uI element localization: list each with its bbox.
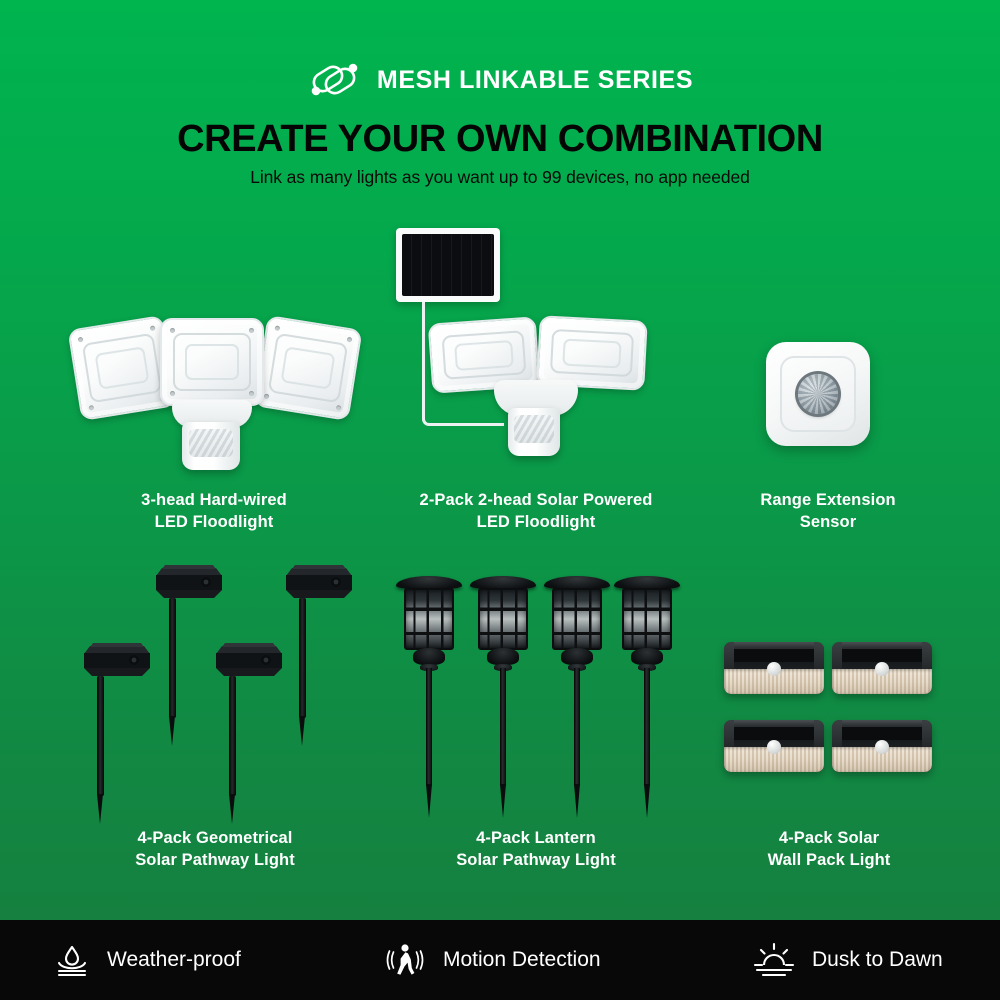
product-caption: Range Extension Sensor <box>708 490 948 534</box>
sunrise-dusk-to-dawn-icon <box>752 940 796 980</box>
feature-motion-detection: Motion Detection <box>383 940 601 980</box>
mesh-link-logo-icon <box>307 58 363 102</box>
product-card-range-extension-sensor[interactable]: Range Extension Sensor <box>708 300 948 534</box>
product-infographic-poster: MESH LINKABLE SERIES CREATE YOUR OWN COM… <box>0 0 1000 1000</box>
product-image-solar-floodlight <box>386 228 686 490</box>
walking-person-motion-icon <box>383 940 427 980</box>
floodlight-panel-right <box>253 315 362 421</box>
product-card-two-pack-solar-floodlight[interactable]: 2-Pack 2-head Solar Powered LED Floodlig… <box>386 228 686 534</box>
product-caption: 4-Pack Solar Wall Pack Light <box>704 828 954 872</box>
geometrical-light-3 <box>208 640 290 687</box>
range-sensor-body <box>766 342 870 446</box>
pir-dot-icon <box>875 662 889 676</box>
product-image-range-sensor <box>708 300 948 490</box>
product-card-geometrical-pathway-light[interactable]: 4-Pack Geometrical Solar Pathway Light <box>60 556 370 872</box>
pir-dot-icon <box>875 740 889 754</box>
wall-pack-light-1 <box>724 642 824 694</box>
product-card-lantern-pathway-light[interactable]: 4-Pack Lantern Solar Pathway Light <box>386 566 686 872</box>
pir-dome-icon <box>798 374 838 414</box>
solar-panel <box>396 228 500 302</box>
feature-label: Motion Detection <box>443 948 601 972</box>
product-caption: 2-Pack 2-head Solar Powered LED Floodlig… <box>386 490 686 534</box>
range-sensor-faceplate <box>780 356 857 433</box>
wall-pack-light-3 <box>724 720 824 772</box>
product-image-geometrical-pathway-lights <box>60 556 370 828</box>
feature-label: Weather-proof <box>107 948 241 972</box>
feature-weather-proof: Weather-proof <box>53 941 241 979</box>
geo-head-icon <box>76 640 158 682</box>
product-caption: 4-Pack Geometrical Solar Pathway Light <box>60 828 370 872</box>
feature-dusk-to-dawn: Dusk to Dawn <box>752 940 943 980</box>
geo-head-icon <box>278 562 360 604</box>
floodlight-panel-center <box>160 318 264 406</box>
page-subheadline: Link as many lights as you want up to 99… <box>0 167 1000 188</box>
brand-title: MESH LINKABLE SERIES <box>377 66 693 95</box>
solar-floodlight-motion-sensor <box>508 408 560 456</box>
wall-pack-light-4 <box>832 720 932 772</box>
feature-label: Dusk to Dawn <box>812 948 943 972</box>
wall-pack-light-2 <box>832 642 932 694</box>
product-image-lantern-pathway-lights <box>386 566 686 828</box>
geo-head-icon <box>208 640 290 682</box>
pir-dot-icon <box>767 740 781 754</box>
water-drop-weatherproof-icon <box>53 941 91 979</box>
pir-dot-icon <box>767 662 781 676</box>
product-caption: 3-head Hard-wired LED Floodlight <box>64 490 364 534</box>
product-caption: 4-Pack Lantern Solar Pathway Light <box>386 828 686 872</box>
product-image-wall-pack-lights <box>704 566 954 828</box>
geo-head-icon <box>148 562 230 604</box>
floodlight-motion-sensor <box>182 422 240 470</box>
geometrical-light-2 <box>148 562 230 609</box>
product-image-three-head-floodlight <box>64 300 364 490</box>
product-card-solar-wall-pack-light[interactable]: 4-Pack Solar Wall Pack Light <box>704 566 954 872</box>
geometrical-light-4 <box>278 562 360 609</box>
product-card-three-head-hardwired-floodlight[interactable]: 3-head Hard-wired LED Floodlight <box>64 300 364 534</box>
geometrical-light-1 <box>76 640 158 687</box>
page-headline: CREATE YOUR OWN COMBINATION <box>0 118 1000 161</box>
feature-bar: Weather-proof Motion Detection <box>0 920 1000 1000</box>
brand-row: MESH LINKABLE SERIES <box>0 58 1000 102</box>
